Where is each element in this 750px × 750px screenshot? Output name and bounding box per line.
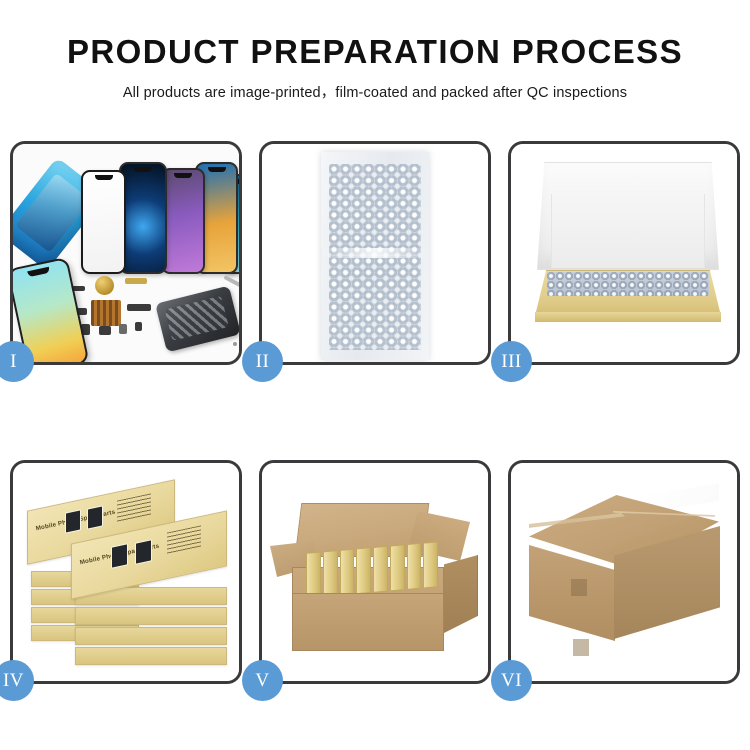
- infographic-page: PRODUCT PREPARATION PROCESS All products…: [0, 0, 750, 750]
- step-panel-4: Mobile Phone Spare Parts Mobile Phone Sp…: [10, 460, 242, 684]
- flex-cable-icon: [127, 304, 151, 311]
- step-panel-5: V: [259, 460, 491, 684]
- flex-cable-icon: [125, 278, 147, 284]
- phone-screen-print: [87, 505, 103, 529]
- step-6-illustration: [511, 463, 737, 681]
- retail-box-in-carton: [423, 541, 438, 588]
- step-badge-4: IV: [0, 660, 34, 701]
- step-badge-3: III: [491, 341, 532, 382]
- mailer-box-inner-wall: [551, 194, 705, 268]
- carton-front-panel: [292, 593, 444, 651]
- notch-icon: [95, 175, 113, 180]
- step-badge-1: I: [0, 341, 34, 382]
- spare-parts-cluster: [65, 272, 239, 362]
- step-badge-5: V: [242, 660, 283, 701]
- process-steps-grid: I II III: [10, 141, 740, 684]
- battery-connector-icon: [99, 326, 111, 335]
- screw-icon: [233, 342, 237, 346]
- step-panel-3: III: [508, 141, 740, 365]
- page-title: PRODUCT PREPARATION PROCESS: [0, 34, 750, 70]
- step-2-illustration: [262, 144, 488, 362]
- retail-box-in-carton: [356, 547, 371, 594]
- connector-chip-icon: [91, 300, 121, 326]
- header: PRODUCT PREPARATION PROCESS All products…: [0, 34, 750, 102]
- step-5-illustration: [262, 463, 488, 681]
- phone-screen-print: [111, 543, 128, 569]
- retail-box-in-carton: [340, 549, 355, 596]
- page-subtitle: All products are image-printed，film-coat…: [0, 81, 750, 102]
- bubble-wrapped-contents: [547, 272, 709, 296]
- step-badge-6: VI: [491, 660, 532, 701]
- carton-seam-tab: [573, 639, 589, 656]
- step-panel-1: I: [10, 141, 242, 365]
- retail-box-side: [75, 627, 227, 645]
- mailer-box-front-lip: [535, 312, 721, 322]
- retail-box-in-carton: [407, 543, 422, 590]
- film-highlight: [321, 248, 429, 258]
- notch-icon: [174, 173, 192, 178]
- retail-box-stack: Mobile Phone Spare Parts Mobile Phone Sp…: [19, 475, 239, 677]
- retail-box-in-carton: [323, 550, 338, 597]
- small-component-icon: [135, 322, 142, 331]
- step-panel-2: II: [259, 141, 491, 365]
- retail-box-in-carton: [390, 544, 405, 591]
- carton-seam-tab: [571, 579, 587, 596]
- step-4-illustration: Mobile Phone Spare Parts Mobile Phone Sp…: [13, 463, 239, 681]
- step-3-illustration: [511, 144, 737, 362]
- phone-glass-panel: [81, 170, 126, 274]
- notch-icon: [208, 167, 226, 172]
- phone-screen-blue: [119, 162, 167, 274]
- step-panel-6: VI: [508, 460, 740, 684]
- phone-back-housing-icon: [155, 286, 239, 353]
- retail-box-side: [75, 647, 227, 665]
- phone-screen-fan: [73, 150, 239, 274]
- bubble-wrap-sleeve: [321, 152, 429, 360]
- step-badge-2: II: [242, 341, 283, 382]
- retail-box-in-carton: [306, 551, 321, 598]
- carton-side-panel: [444, 555, 478, 633]
- vibration-coil-icon: [95, 276, 114, 295]
- phone-screen-purple: [161, 168, 205, 274]
- retail-box-in-carton: [373, 546, 388, 593]
- phone-screen-print: [135, 539, 152, 565]
- phone-screen-print: [65, 509, 81, 533]
- notch-icon: [134, 167, 152, 172]
- small-component-icon: [119, 324, 127, 334]
- retail-box-side: [75, 607, 227, 625]
- step-1-illustration: [13, 144, 239, 362]
